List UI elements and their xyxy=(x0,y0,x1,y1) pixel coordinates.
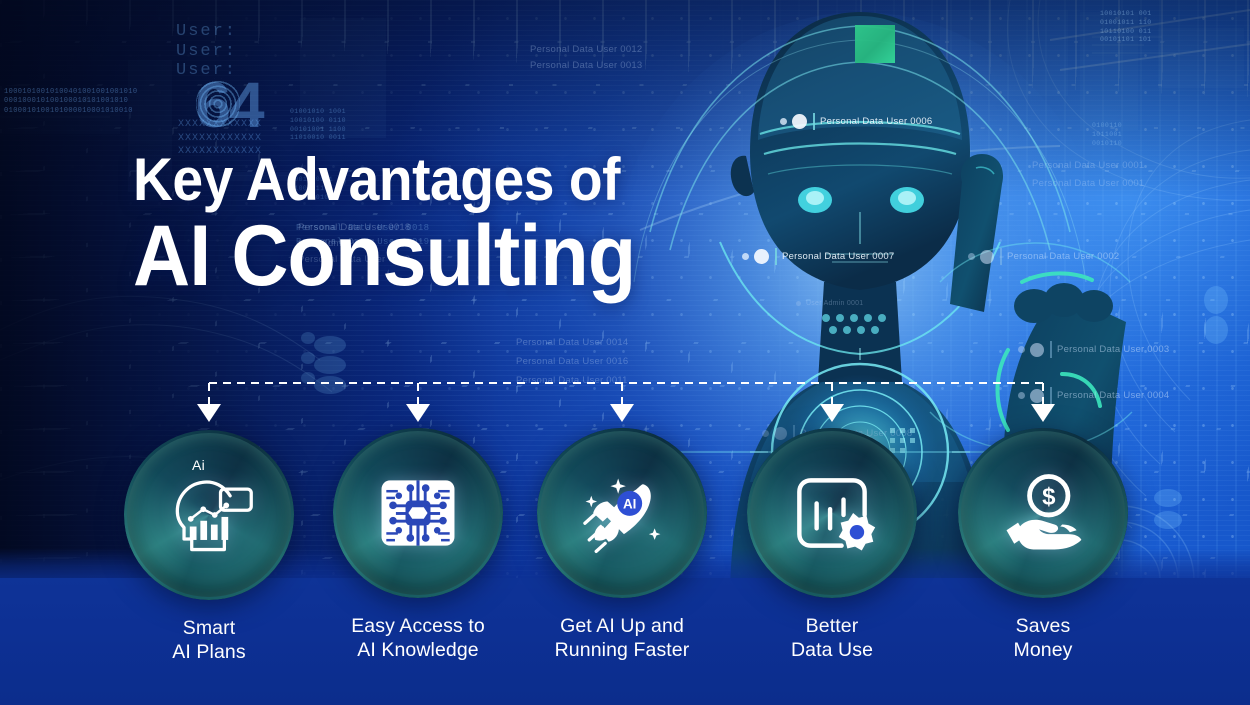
page-title: Key Advantages of AI Consulting xyxy=(133,148,679,302)
svg-text:$: $ xyxy=(1042,483,1056,510)
advantage-circle-1[interactable]: Ai xyxy=(124,430,294,600)
infographic-canvas: 10001010010100401001001001010 0001000101… xyxy=(0,0,1250,705)
head-ai-analytics-icon xyxy=(161,467,257,563)
data-chart-gear-icon xyxy=(784,465,880,561)
advantage-item-better-data-use[interactable]: Better Data Use xyxy=(747,428,917,662)
icon-ai-badge-text-3: AI xyxy=(623,497,636,512)
circuit-book-icon xyxy=(370,465,466,561)
title-line-2: AI Consulting xyxy=(133,210,635,302)
hand-holding-dollar-coin-icon: $ xyxy=(995,465,1091,561)
ai-rocket-icon: AI xyxy=(574,465,670,561)
advantage-label-1: Smart AI Plans xyxy=(124,616,294,664)
advantage-label-2: Easy Access to AI Knowledge xyxy=(333,614,503,662)
advantage-circle-2[interactable] xyxy=(333,428,503,598)
advantages-list: Ai Smart AI Plans xyxy=(0,0,1250,705)
advantage-item-saves-money[interactable]: $ Saves Money xyxy=(958,428,1128,662)
advantage-item-smart-ai-plans[interactable]: Ai Smart AI Plans xyxy=(124,430,294,664)
advantage-circle-4[interactable] xyxy=(747,428,917,598)
advantage-item-easy-access-ai-knowledge[interactable]: Easy Access to AI Knowledge xyxy=(333,428,503,662)
icon-ai-badge-text-1: Ai xyxy=(192,457,205,473)
title-line-1: Key Advantages of xyxy=(133,148,635,212)
advantage-label-5: Saves Money xyxy=(958,614,1128,662)
advantage-label-3: Get AI Up and Running Faster xyxy=(537,614,707,662)
advantage-circle-3[interactable]: AI xyxy=(537,428,707,598)
advantage-circle-5[interactable]: $ xyxy=(958,428,1128,598)
advantage-label-4: Better Data Use xyxy=(747,614,917,662)
advantage-item-get-ai-running-faster[interactable]: AI Get AI Up and Running Faster xyxy=(537,428,707,662)
